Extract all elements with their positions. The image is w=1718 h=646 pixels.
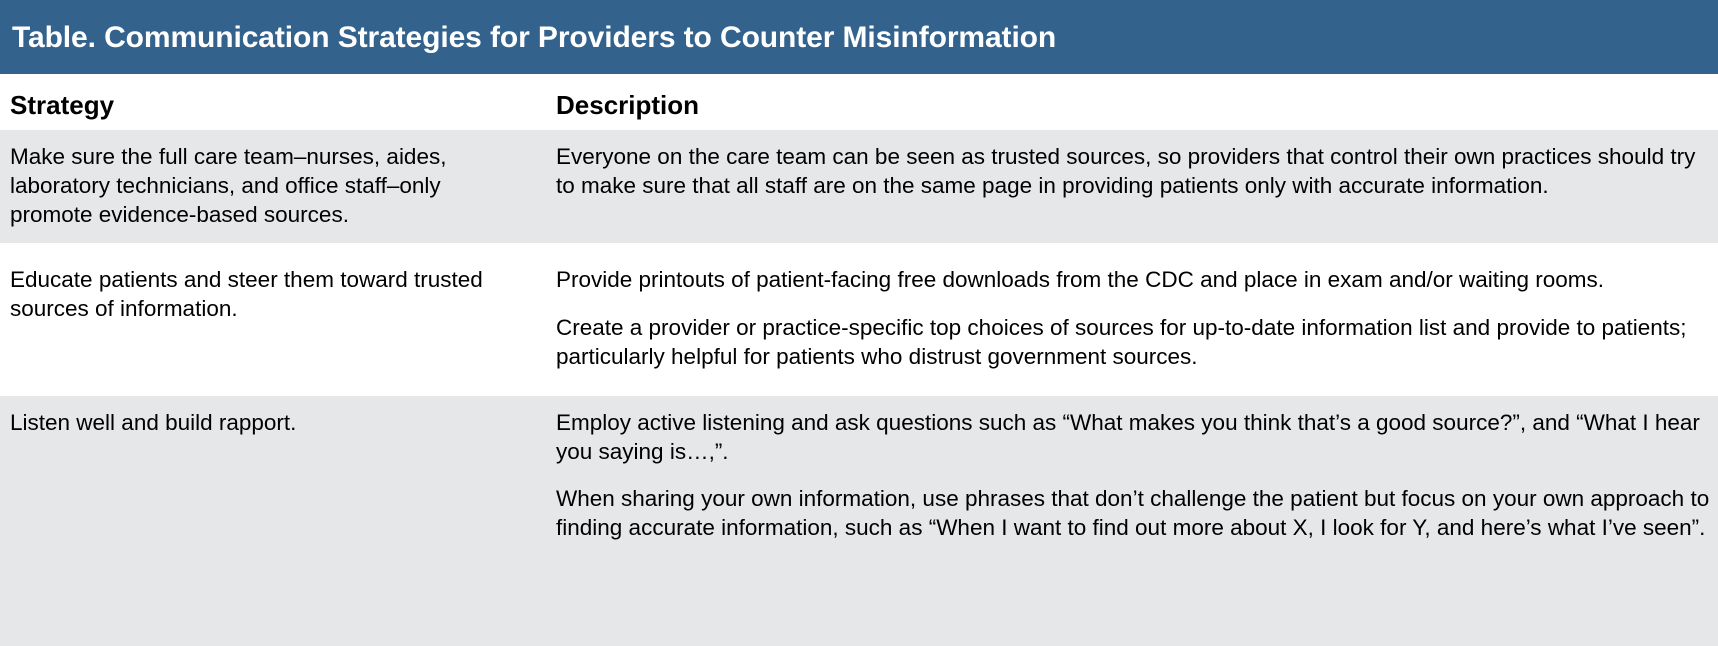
cell-strategy: Educate patients and steer them toward t… [0,253,548,385]
strategy-text: Educate patients and steer them toward t… [10,266,526,324]
table-body: Make sure the full care team–nurses, aid… [0,130,1718,646]
strategy-text: Make sure the full care team–nurses, aid… [10,143,526,229]
table-row: Listen well and build rapport.Employ act… [0,396,1718,557]
cell-description: Everyone on the care team can be seen as… [548,130,1718,243]
table-title-bar: Table. Communication Strategies for Prov… [0,0,1718,74]
description-paragraph: Employ active listening and ask question… [556,409,1710,467]
description-paragraph: Everyone on the care team can be seen as… [556,143,1710,201]
column-header-strategy: Strategy [0,74,548,130]
cell-strategy: Make sure the full care team–nurses, aid… [0,130,548,243]
column-header-description: Description [548,74,1718,130]
description-paragraph: Provide printouts of patient-facing free… [556,266,1710,295]
table-column-header-row: Strategy Description [0,74,1718,130]
table-title: Table. Communication Strategies for Prov… [12,21,1056,54]
row-separator [0,386,1718,396]
cell-strategy: Listen well and build rapport. [0,396,548,557]
cell-description: Employ active listening and ask question… [548,396,1718,557]
table-footer-fill [0,557,1718,646]
strategy-text: Listen well and build rapport. [10,409,526,438]
table-row: Make sure the full care team–nurses, aid… [0,130,1718,243]
table-row: Educate patients and steer them toward t… [0,253,1718,385]
row-separator [0,243,1718,253]
description-paragraph: Create a provider or practice-specific t… [556,314,1710,372]
table-figure: Table. Communication Strategies for Prov… [0,0,1718,646]
description-paragraph: When sharing your own information, use p… [556,485,1710,543]
cell-description: Provide printouts of patient-facing free… [548,253,1718,385]
